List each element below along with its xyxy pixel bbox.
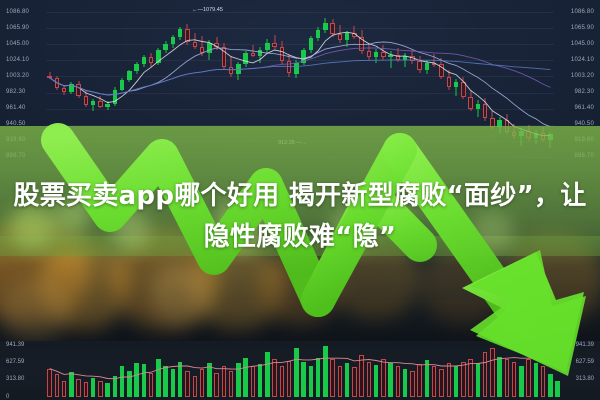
candle-body: [258, 50, 262, 56]
volume-bar: [127, 371, 131, 397]
candle-body: [396, 55, 400, 60]
volume-bar: [323, 346, 327, 397]
price-tick-label: 1045.00: [6, 41, 29, 47]
candlestick: [309, 36, 313, 53]
candle-body: [98, 101, 102, 106]
candle-body: [243, 53, 247, 64]
volume-bar: [236, 363, 240, 397]
volume-bar: [454, 366, 458, 397]
volume-bar: [447, 363, 451, 397]
candle-body: [301, 50, 305, 62]
volume-bar: [200, 369, 204, 397]
candlestick: [323, 18, 327, 34]
volume-bar: [410, 371, 414, 397]
candlestick: [359, 30, 363, 54]
candlestick: [301, 48, 305, 65]
screenshot-canvas: 1086.801065.901045.001024.101003.20982.3…: [0, 0, 600, 400]
annotation-period-high: ←—1079.45: [192, 7, 223, 13]
candlestick: [236, 62, 240, 80]
candle-body: [388, 55, 392, 57]
volume-bar: [548, 374, 552, 397]
candlestick: [171, 35, 175, 48]
volume-bar: [69, 372, 73, 397]
candle-body: [207, 43, 211, 53]
volume-tick-label: 941.39: [576, 342, 594, 348]
volume-bar: [541, 366, 545, 397]
candlestick: [316, 27, 320, 42]
candlestick: [214, 37, 218, 50]
volume-bar: [403, 369, 407, 397]
candlestick: [84, 90, 88, 107]
candle-body: [345, 33, 349, 40]
candlestick: [432, 54, 436, 66]
volume-bar: [105, 383, 109, 397]
candlestick: [454, 79, 458, 96]
volume-bar: [388, 363, 392, 397]
volume-bar: [156, 359, 160, 397]
volume-bar: [251, 366, 255, 397]
volume-tick-label: 627.59: [576, 359, 594, 365]
headline-line-2: 隐性腐败难“隐”: [0, 217, 600, 258]
volume-bar: [280, 366, 284, 397]
volume-bar: [534, 363, 538, 397]
candle-body: [229, 67, 233, 75]
candle-body: [410, 56, 414, 61]
candle-body: [316, 30, 320, 38]
price-tick-label: 1045.00: [571, 41, 594, 47]
volume-bar: [461, 362, 465, 397]
candle-body: [149, 57, 153, 63]
candlestick: [47, 72, 51, 79]
candle-body: [483, 104, 487, 119]
candlestick: [229, 56, 233, 78]
candle-body: [200, 47, 204, 53]
volume-bar: [62, 381, 66, 397]
candle-body: [47, 76, 51, 78]
candlestick: [134, 62, 138, 74]
candlestick: [461, 77, 465, 99]
candlestick: [251, 45, 255, 57]
gridline: [46, 28, 554, 29]
volume-bar: [113, 376, 117, 397]
candle-body: [69, 84, 73, 92]
candlestick: [425, 60, 429, 74]
candlestick: [468, 90, 472, 112]
candlestick: [193, 33, 197, 49]
volume-tick-label: 0: [6, 394, 9, 400]
volume-bar: [272, 359, 276, 397]
volume-bar: [171, 369, 175, 397]
volume-bar: [555, 381, 559, 397]
candle-body: [294, 63, 298, 74]
candlestick: [410, 50, 414, 64]
price-tick-label: 982.30: [574, 89, 594, 95]
candle-body: [374, 52, 378, 57]
candle-body: [309, 38, 313, 50]
candle-wick: [390, 51, 391, 68]
candlestick: [163, 41, 167, 53]
volume-bar: [294, 348, 298, 397]
headline: 股票买卖app哪个好用 揭开新型腐败“面纱”，让 隐性腐败难“隐”: [0, 176, 600, 258]
candlestick: [120, 78, 124, 91]
volume-bar: [265, 352, 269, 397]
candlestick: [55, 76, 59, 90]
candlestick: [62, 85, 66, 95]
volume-bar: [301, 362, 305, 397]
volume-bar: [243, 358, 247, 397]
candle-body: [461, 82, 465, 97]
candle-body: [134, 64, 138, 71]
candle-body: [287, 61, 291, 73]
volume-bar: [134, 363, 138, 397]
candle-body: [417, 61, 421, 70]
candlestick: [265, 39, 269, 54]
candle-body: [193, 42, 197, 47]
candle-body: [178, 29, 182, 37]
candlestick: [222, 43, 226, 69]
volume-bar: [84, 382, 88, 397]
volume-bar: [497, 357, 501, 397]
volume-bar: [519, 366, 523, 397]
volume-bar: [55, 374, 59, 397]
candlestick: [330, 19, 334, 37]
volume-tick-label: 313.80: [6, 376, 24, 382]
candle-body: [439, 64, 443, 76]
volume-bar: [316, 358, 320, 397]
candlestick: [243, 51, 247, 67]
candle-body: [236, 64, 240, 74]
candle-body: [352, 33, 356, 36]
candlestick: [280, 41, 284, 64]
candlestick: [396, 48, 400, 62]
price-tick-label: 1065.90: [6, 25, 29, 31]
price-tick-label: 1086.80: [6, 9, 29, 15]
volume-tick-label: 627.59: [6, 359, 24, 365]
candlestick: [439, 58, 443, 79]
volume-bar: [367, 362, 371, 397]
candle-body: [403, 56, 407, 60]
volume-bar: [425, 360, 429, 397]
volume-bar: [359, 355, 363, 397]
candlestick: [345, 31, 349, 46]
price-tick-label: 1003.20: [6, 73, 29, 79]
candlestick: [367, 43, 371, 60]
volume-bar: [352, 367, 356, 397]
candlestick: [338, 25, 342, 43]
candle-body: [454, 82, 458, 87]
price-tick-label: 1024.10: [6, 57, 29, 63]
candlestick: [156, 48, 160, 65]
gridline: [46, 60, 554, 61]
volume-bar: [222, 366, 226, 397]
candlestick: [76, 81, 80, 98]
candlestick: [403, 53, 407, 66]
volume-bar: [98, 381, 102, 397]
candle-body: [105, 104, 109, 107]
volume-bar: [381, 359, 385, 397]
volume-bar: [309, 366, 313, 397]
candle-body: [91, 101, 95, 105]
volume-bar: [490, 348, 494, 397]
price-tick-label: 961.40: [574, 105, 594, 111]
volume-bar: [178, 362, 182, 397]
candle-body: [381, 52, 385, 57]
volume-bar: [512, 362, 516, 397]
candlestick: [388, 51, 392, 68]
price-tick-label: 961.40: [6, 105, 26, 111]
candlestick: [127, 70, 131, 82]
candlestick: [374, 49, 378, 63]
candle-body: [468, 97, 472, 109]
candlestick: [258, 47, 262, 62]
volume-bar: [345, 363, 349, 397]
volume-bar: [214, 373, 218, 397]
candle-body: [76, 84, 80, 97]
candle-body: [113, 90, 117, 104]
candlestick: [294, 60, 298, 78]
candle-body: [120, 80, 124, 90]
candle-body: [163, 44, 167, 49]
volume-bar: [120, 366, 124, 397]
candle-body: [156, 50, 160, 64]
candle-body: [272, 43, 276, 47]
candlestick: [142, 55, 146, 67]
candle-wick: [354, 26, 355, 39]
price-tick-label: 982.30: [6, 89, 26, 95]
price-tick-label: 1065.90: [571, 25, 594, 31]
candle-body: [214, 43, 218, 48]
volume-bar: [330, 359, 334, 397]
candle-body: [330, 23, 334, 34]
candle-body: [359, 37, 363, 52]
volume-bar: [142, 364, 146, 397]
volume-bar: [439, 369, 443, 397]
candle-body: [432, 63, 436, 65]
volume-bar: [505, 359, 509, 397]
candlestick: [98, 96, 102, 108]
candle-body: [323, 23, 327, 29]
candle-body: [171, 37, 175, 44]
gridline: [46, 44, 554, 45]
volume-bar: [287, 361, 291, 397]
volume-bar: [417, 364, 421, 397]
volume-bar: [193, 376, 197, 397]
volume-bar: [47, 369, 51, 397]
candle-body: [127, 71, 131, 79]
candlestick: [113, 87, 117, 105]
volume-bar: [207, 363, 211, 397]
volume-bar: [396, 366, 400, 397]
headline-line-1: 股票买卖app哪个好用 揭开新型腐败“面纱”，让: [13, 181, 586, 211]
volume-bar: [476, 363, 480, 397]
volume-bar: [483, 352, 487, 397]
price-tick-label: 1086.80: [571, 9, 594, 15]
candlestick: [178, 27, 182, 41]
candle-body: [251, 53, 255, 55]
candle-body: [55, 78, 59, 88]
candle-body: [84, 96, 88, 105]
candlestick: [185, 24, 189, 45]
candlestick: [207, 40, 211, 60]
volume-bar: [526, 359, 530, 397]
volume-bar: [258, 364, 262, 397]
gridline: [46, 12, 554, 13]
candlestick: [149, 53, 153, 67]
candlestick: [69, 82, 73, 94]
candlestick: [483, 98, 487, 120]
volume-bar: [338, 366, 342, 397]
candle-body: [280, 47, 284, 61]
gridline: [46, 93, 554, 94]
volume-bar: [229, 371, 233, 397]
volume-tick-label: 313.80: [576, 376, 594, 382]
volume-bar: [374, 365, 378, 397]
candlestick: [381, 45, 385, 60]
volume-bar: [432, 366, 436, 397]
volume-bar: [149, 373, 153, 397]
candlestick: [200, 36, 204, 56]
volume-bar: [163, 366, 167, 397]
candle-body: [185, 29, 189, 42]
candlestick: [417, 56, 421, 73]
price-tick-label: 1003.20: [571, 73, 594, 79]
candle-body: [222, 47, 226, 66]
candlestick: [105, 101, 109, 110]
candle-body: [142, 57, 146, 64]
candlestick: [272, 35, 276, 49]
candle-body: [425, 63, 429, 71]
candle-body: [447, 77, 451, 88]
volume-bar: [76, 379, 80, 397]
volume-tick-label: 941.39: [6, 342, 24, 348]
volume-bar: [468, 359, 472, 397]
volume-bar: [185, 371, 189, 397]
candlestick: [287, 54, 291, 76]
candlestick: [476, 100, 480, 116]
candle-body: [265, 43, 269, 49]
candlestick: [447, 70, 451, 90]
price-tick-label: 1024.10: [571, 57, 594, 63]
candle-body: [62, 88, 66, 92]
candle-body: [367, 51, 371, 57]
candlestick: [91, 99, 95, 111]
candlestick: [352, 26, 356, 39]
candle-body: [338, 34, 342, 40]
candle-body: [476, 104, 480, 109]
volume-bar: [91, 378, 95, 397]
